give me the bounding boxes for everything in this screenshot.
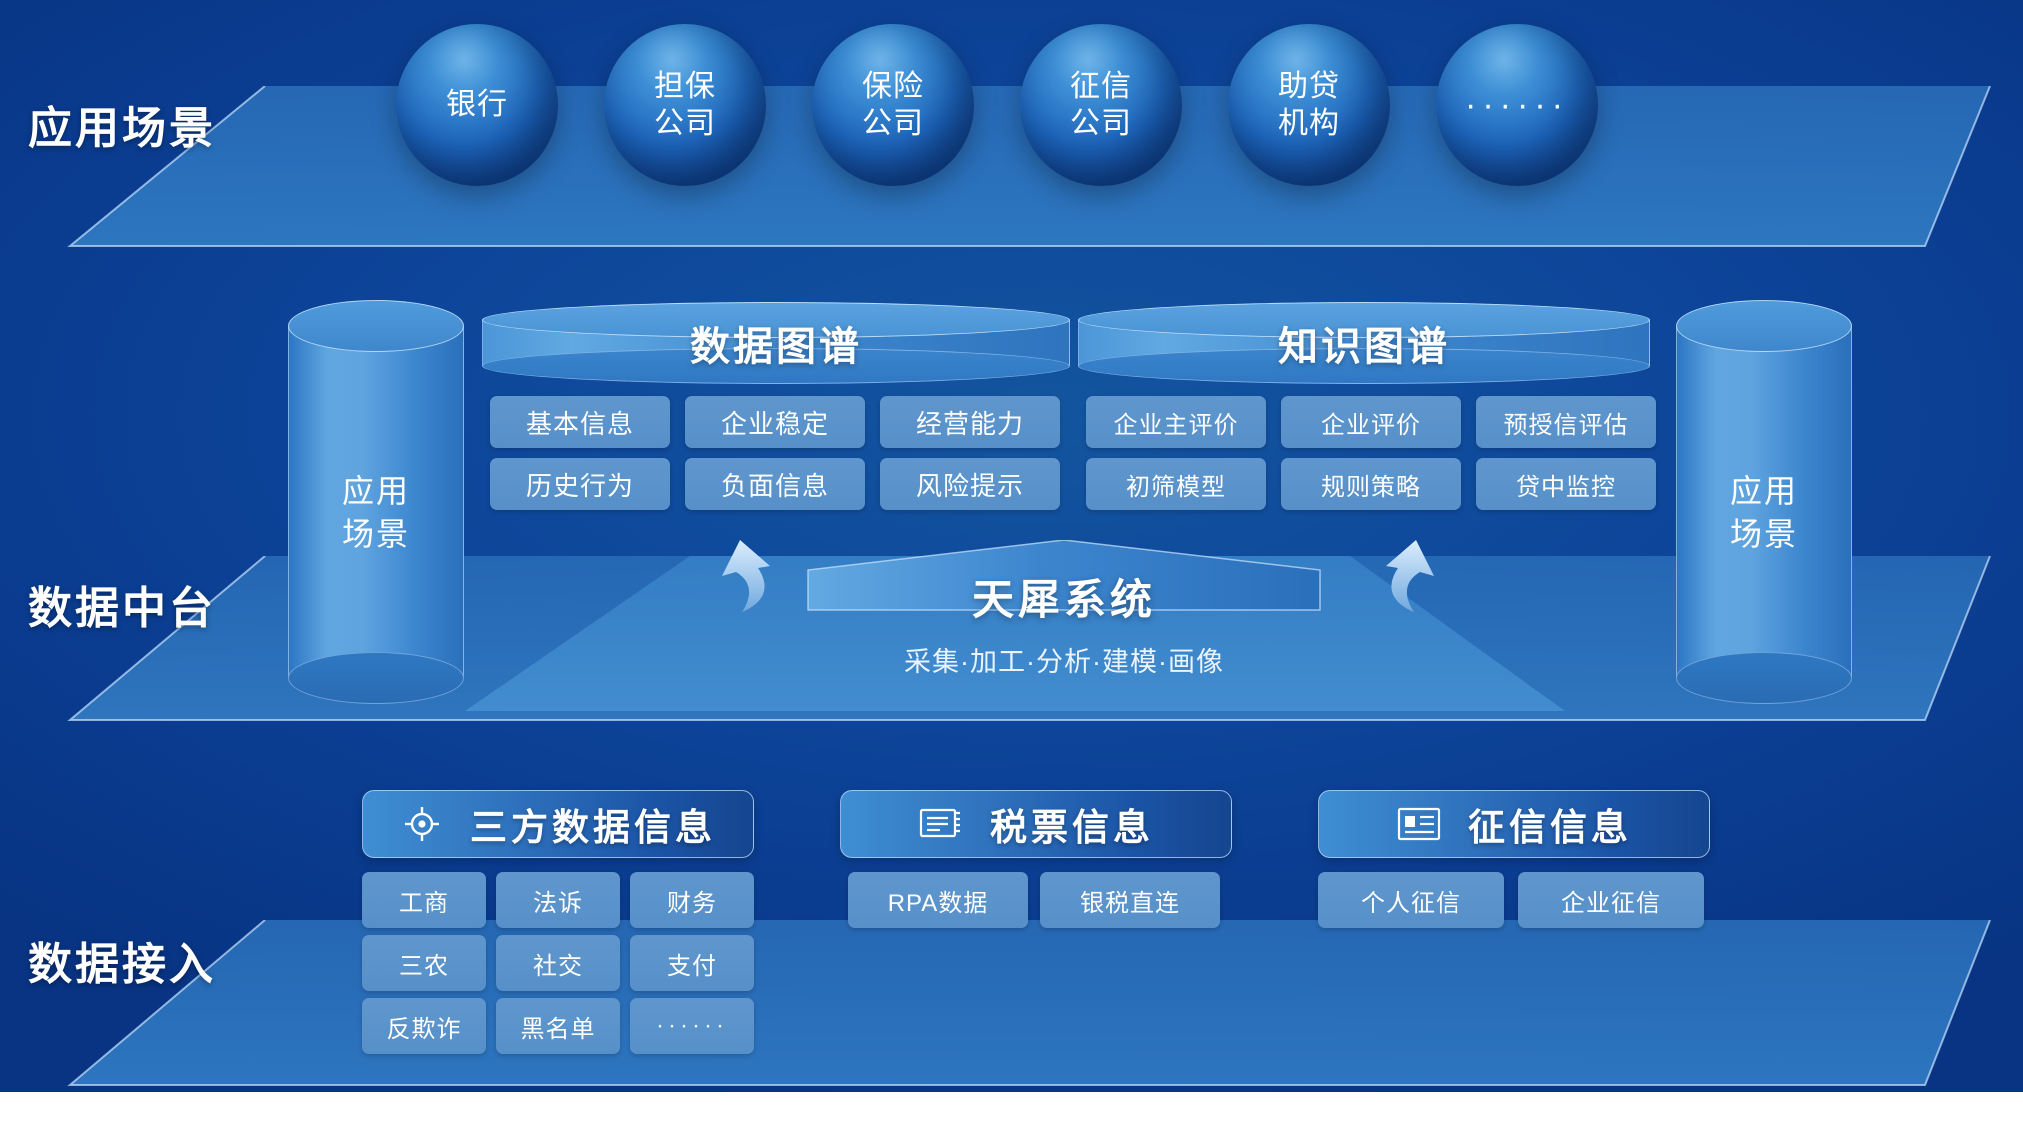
scenario-sphere-more[interactable]: ······ <box>1436 24 1598 186</box>
pill-label: 负面信息 <box>721 466 829 503</box>
knowledge-graph-tag[interactable]: 企业主评价 <box>1086 396 1266 448</box>
source-header-tax-invoice[interactable]: 税票信息 <box>840 790 1232 858</box>
pill-label: 企业评价 <box>1321 405 1421 440</box>
data-graph-tag[interactable]: 经营能力 <box>880 396 1060 448</box>
cylinder-bottom-ellipse <box>1676 652 1852 704</box>
pill-label: 风险提示 <box>916 466 1024 503</box>
cylinder-bottom-ellipse <box>288 652 464 704</box>
tianxi-system-subtitle: 采集·加工·分析·建模·画像 <box>806 640 1322 679</box>
scenario-sphere-label: 征信 <box>1070 68 1132 106</box>
pill-label: 初筛模型 <box>1126 467 1226 502</box>
cylinder-label: 应用 场景 <box>1676 470 1852 556</box>
crosshair-target-icon <box>400 802 444 846</box>
arrow-up-right-icon <box>1348 522 1448 618</box>
cylinder-label-line: 场景 <box>1730 516 1798 552</box>
pill-label: 历史行为 <box>526 466 634 503</box>
cylinder-top-ellipse <box>288 300 464 352</box>
source-tag-third-party[interactable]: 工商 <box>362 872 486 928</box>
tianxi-system-title: 天犀系统 <box>806 566 1322 627</box>
left-application-scenario-cylinder: 应用 场景 <box>288 300 464 704</box>
platform-top-application <box>0 86 2023 252</box>
right-application-scenario-cylinder: 应用 场景 <box>1676 300 1852 704</box>
pill-label: 财务 <box>667 883 717 918</box>
scenario-sphere-label: 银行 <box>446 86 508 124</box>
layer-label-data-access: 数据接入 <box>28 928 216 992</box>
data-graph-tag[interactable]: 基本信息 <box>490 396 670 448</box>
source-tag-tax[interactable]: 银税直连 <box>1040 872 1220 928</box>
source-header-third-party-data[interactable]: 三方数据信息 <box>362 790 754 858</box>
source-tag-third-party-more[interactable]: ······ <box>630 998 754 1054</box>
scenario-sphere-bank[interactable]: 银行 <box>396 24 558 186</box>
scenario-sphere-label: 保险 <box>862 68 924 106</box>
pill-label: 支付 <box>667 946 717 981</box>
cylinder-label-line: 场景 <box>342 516 410 552</box>
platform-bottom-access <box>0 920 2023 1092</box>
scenario-sphere-label: 公司 <box>1070 105 1132 143</box>
scenario-sphere-insurance-company[interactable]: 保险 公司 <box>812 24 974 186</box>
knowledge-graph-tag[interactable]: 预授信评估 <box>1476 396 1656 448</box>
source-tag-third-party[interactable]: 社交 <box>496 935 620 991</box>
data-graph-tag[interactable]: 历史行为 <box>490 458 670 510</box>
scenario-sphere-label: ······ <box>1465 84 1569 127</box>
scenario-sphere-label: 公司 <box>654 105 716 143</box>
pill-label: 规则策略 <box>1321 467 1421 502</box>
source-tag-credit[interactable]: 个人征信 <box>1318 872 1504 928</box>
architecture-diagram: 应用场景 数据中台 数据接入 银行 担保 公司 保险 公司 征信 公司 助贷 机… <box>0 0 2023 1130</box>
pill-label: ······ <box>656 1012 728 1040</box>
knowledge-graph-title: 知识图谱 <box>1078 314 1650 372</box>
pill-label: 基本信息 <box>526 404 634 441</box>
pill-label: 个人征信 <box>1361 883 1461 918</box>
pill-label: 企业征信 <box>1561 883 1661 918</box>
pill-label: 工商 <box>399 883 449 918</box>
cylinder-top-ellipse <box>1676 300 1852 352</box>
pill-label: 反欺诈 <box>387 1009 462 1044</box>
pill-label: RPA数据 <box>888 883 989 918</box>
cylinder-label-line: 应用 <box>342 473 410 509</box>
cylinder-label: 应用 场景 <box>288 470 464 556</box>
pill-label: 黑名单 <box>521 1009 596 1044</box>
pill-label: 法诉 <box>533 883 583 918</box>
source-tag-tax[interactable]: RPA数据 <box>848 872 1028 928</box>
arrow-up-left-icon <box>708 522 808 618</box>
data-graph-tag[interactable]: 企业稳定 <box>685 396 865 448</box>
source-header-title: 三方数据信息 <box>470 797 716 851</box>
pill-label: 企业主评价 <box>1114 405 1239 440</box>
scenario-sphere-label: 公司 <box>862 105 924 143</box>
scenario-sphere-label: 担保 <box>654 68 716 106</box>
knowledge-graph-tag[interactable]: 初筛模型 <box>1086 458 1266 510</box>
cylinder-label-line: 应用 <box>1730 473 1798 509</box>
knowledge-graph-disc: 知识图谱 <box>1078 302 1650 384</box>
data-graph-tag[interactable]: 负面信息 <box>685 458 865 510</box>
source-tag-third-party[interactable]: 财务 <box>630 872 754 928</box>
scenario-sphere-loan-agency[interactable]: 助贷 机构 <box>1228 24 1390 186</box>
data-graph-tag[interactable]: 风险提示 <box>880 458 1060 510</box>
pill-label: 预授信评估 <box>1504 405 1629 440</box>
knowledge-graph-tag[interactable]: 规则策略 <box>1281 458 1461 510</box>
id-card-icon <box>1396 805 1442 843</box>
source-tag-third-party[interactable]: 法诉 <box>496 872 620 928</box>
layer-label-data-middle-platform: 数据中台 <box>28 572 216 636</box>
tianxi-system-block: 天犀系统 <box>806 540 1322 612</box>
pill-label: 经营能力 <box>916 404 1024 441</box>
scenario-sphere-credit-company[interactable]: 征信 公司 <box>1020 24 1182 186</box>
source-header-credit-info[interactable]: 征信信息 <box>1318 790 1710 858</box>
source-tag-third-party[interactable]: 支付 <box>630 935 754 991</box>
source-tag-credit[interactable]: 企业征信 <box>1518 872 1704 928</box>
data-graph-disc: 数据图谱 <box>482 302 1070 384</box>
pill-label: 企业稳定 <box>721 404 829 441</box>
source-tag-third-party[interactable]: 三农 <box>362 935 486 991</box>
source-tag-third-party[interactable]: 反欺诈 <box>362 998 486 1054</box>
source-tag-third-party[interactable]: 黑名单 <box>496 998 620 1054</box>
data-graph-title: 数据图谱 <box>482 314 1070 372</box>
invoice-icon <box>918 804 964 844</box>
layer-label-application-scenarios: 应用场景 <box>28 92 216 156</box>
scenario-sphere-guarantee-company[interactable]: 担保 公司 <box>604 24 766 186</box>
source-header-title: 征信信息 <box>1468 797 1632 851</box>
bottom-white-strip <box>0 1092 2023 1130</box>
source-header-title: 税票信息 <box>990 797 1154 851</box>
knowledge-graph-tag[interactable]: 贷中监控 <box>1476 458 1656 510</box>
pill-label: 社交 <box>533 946 583 981</box>
pill-label: 贷中监控 <box>1516 467 1616 502</box>
scenario-sphere-label: 机构 <box>1278 105 1340 143</box>
pill-label: 三农 <box>399 946 449 981</box>
pill-label: 银税直连 <box>1080 883 1180 918</box>
knowledge-graph-tag[interactable]: 企业评价 <box>1281 396 1461 448</box>
scenario-sphere-label: 助贷 <box>1278 68 1340 106</box>
